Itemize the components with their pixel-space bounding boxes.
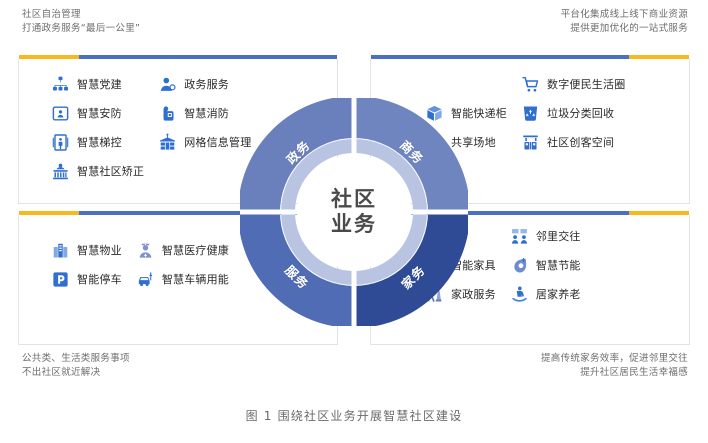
donut-center-label: 社区 业务 [300, 158, 408, 266]
accent-blue-segment [79, 55, 337, 59]
infographic-figure: 社区自治管理 打通政务服务“最后一公里” 平台化集成线上线下商业资源 提供更加优… [0, 0, 708, 443]
item-government-service[interactable]: 政务服务 [158, 73, 251, 95]
business-column-2: 数字便民生活圈 垃圾分类回收 社区创客空间 [521, 73, 625, 153]
note-bottom-left: 公共类、生活类服务事项 不出社区就近解决 [22, 352, 130, 380]
item-label: 智慧节能 [536, 257, 581, 273]
accent-yellow-segment [629, 211, 689, 215]
service-item-grid: 智慧物业 智能停车 智慧医疗健康 智慧车辆用能 [51, 239, 229, 290]
org-chart-icon [51, 75, 70, 94]
accent-yellow-segment [19, 211, 79, 215]
elderly-care-icon [510, 285, 529, 304]
note-bottom-left-line1: 公共类、生活类服务事项 [22, 352, 130, 366]
item-label: 社区创客空间 [547, 134, 614, 150]
note-bottom-right: 提高传统家务效率，促进邻里交往 提升社区居民生活幸福感 [541, 352, 688, 380]
note-bottom-right-line1: 提高传统家务效率，促进邻里交往 [541, 352, 688, 366]
parking-p-icon [51, 270, 70, 289]
item-smart-party-building[interactable]: 智慧党建 [51, 73, 144, 95]
item-label: 智慧车辆用能 [162, 271, 229, 287]
recycle-bin-icon [521, 104, 540, 123]
housework-column-2: 邻里交往 智慧节能 居家养老 [510, 225, 581, 305]
government-column-2: 政务服务 智慧消防 网格信息管理 [158, 73, 251, 182]
card-accent-bar [371, 55, 689, 59]
building-icon [51, 241, 70, 260]
item-label: 智慧物业 [77, 242, 122, 258]
item-label: 智慧党建 [77, 76, 122, 92]
note-top-left-line2: 打通政务服务“最后一公里” [22, 22, 140, 36]
accent-blue-segment [371, 55, 629, 59]
government-item-grid: 智慧党建 智慧安防 智慧梯控 智慧社区矫正 政务服务 [51, 73, 251, 182]
item-label: 智慧安防 [77, 105, 122, 121]
item-community-maker-space[interactable]: 社区创客空间 [521, 131, 625, 153]
item-label: 智慧梯控 [77, 134, 122, 150]
item-grid-information-management[interactable]: 网格信息管理 [158, 131, 251, 153]
accent-yellow-segment [19, 55, 79, 59]
central-donut-chart: 政务 商务 服务 家务 社区 业务 [240, 98, 468, 326]
item-waste-sorting-recycling[interactable]: 垃圾分类回收 [521, 102, 625, 124]
courthouse-icon [51, 162, 70, 181]
item-smart-property-management[interactable]: 智慧物业 [51, 239, 122, 261]
energy-saving-icon [510, 256, 529, 275]
item-label: 政务服务 [184, 76, 229, 92]
maker-space-icon [521, 133, 540, 152]
item-smart-energy-saving[interactable]: 智慧节能 [510, 254, 581, 276]
center-line-1: 社区 [331, 187, 377, 212]
note-top-left-line1: 社区自治管理 [22, 8, 140, 22]
monitor-person-icon [51, 104, 70, 123]
fire-hydrant-icon [158, 104, 177, 123]
item-smart-firefighting[interactable]: 智慧消防 [158, 102, 251, 124]
item-home-elderly-care[interactable]: 居家养老 [510, 283, 581, 305]
person-badge-icon [158, 75, 177, 94]
note-top-left: 社区自治管理 打通政务服务“最后一公里” [22, 8, 140, 36]
note-top-right-line2: 提供更加优化的一站式服务 [561, 22, 688, 36]
service-column-1: 智慧物业 智能停车 [51, 239, 122, 290]
item-digital-convenience-circle[interactable]: 数字便民生活圈 [521, 73, 625, 95]
service-column-2: 智慧医疗健康 智慧车辆用能 [136, 239, 229, 290]
item-label: 垃圾分类回收 [547, 105, 614, 121]
item-label: 智能停车 [77, 271, 122, 287]
item-smart-vehicle-energy[interactable]: 智慧车辆用能 [136, 268, 229, 290]
doctor-icon [136, 241, 155, 260]
item-label: 数字便民生活圈 [547, 76, 625, 92]
item-label: 智慧消防 [184, 105, 229, 121]
figure-caption: 图 1 围绕社区业务开展智慧社区建设 [0, 407, 708, 424]
government-column-1: 智慧党建 智慧安防 智慧梯控 智慧社区矫正 [51, 73, 144, 182]
item-smart-elevator-control[interactable]: 智慧梯控 [51, 131, 144, 153]
ev-charging-car-icon [136, 270, 155, 289]
neighbors-icon [510, 227, 529, 246]
item-smart-medical-health[interactable]: 智慧医疗健康 [136, 239, 229, 261]
item-smart-security[interactable]: 智慧安防 [51, 102, 144, 124]
card-accent-bar [19, 55, 337, 59]
item-label: 居家养老 [536, 286, 581, 302]
shopping-cart-icon [521, 75, 540, 94]
item-neighbor-interaction[interactable]: 邻里交往 [510, 225, 581, 247]
note-top-right: 平台化集成线上线下商业资源 提供更加优化的一站式服务 [561, 8, 688, 36]
elevator-icon [51, 133, 70, 152]
item-label: 智慧医疗健康 [162, 242, 229, 258]
item-smart-parking[interactable]: 智能停车 [51, 268, 122, 290]
note-bottom-left-line2: 不出社区就近解决 [22, 366, 130, 380]
note-top-right-line1: 平台化集成线上线下商业资源 [561, 8, 688, 22]
accent-yellow-segment [629, 55, 689, 59]
note-bottom-right-line2: 提升社区居民生活幸福感 [541, 366, 688, 380]
item-smart-community-correction[interactable]: 智慧社区矫正 [51, 160, 144, 182]
item-label: 邻里交往 [536, 228, 581, 244]
center-line-2: 业务 [331, 212, 377, 237]
item-label: 智慧社区矫正 [77, 163, 144, 179]
grid-building-icon [158, 133, 177, 152]
